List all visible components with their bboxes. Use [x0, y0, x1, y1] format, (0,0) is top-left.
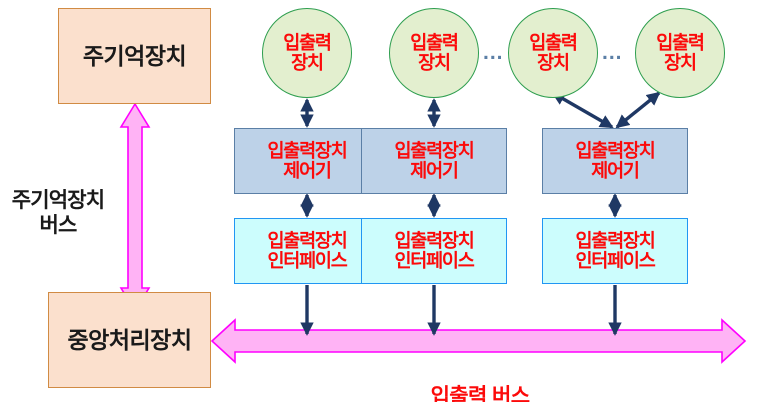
io-device-circle-3[interactable]: 입출력 장치: [508, 8, 598, 98]
io-device-label-1: 입출력 장치: [283, 33, 330, 74]
cpu-box[interactable]: 중앙처리장치: [48, 292, 211, 388]
io-controller-label-2: 입출력장치 제어기: [394, 141, 473, 181]
ellipsis-2-text: ...: [602, 41, 623, 64]
connector-device-controller-3b: [617, 93, 659, 127]
connector-device-controller-3a: [553, 93, 612, 127]
io-controller-label-1: 입출력장치 제어기: [267, 141, 346, 181]
cpu-box-label: 중앙처리장치: [68, 328, 192, 353]
io-architecture-diagram: 주기억장치 중앙처리장치 주기억장치 버스 입출력 버스 입출력 장치 입출력 …: [0, 0, 778, 402]
io-interface-label-1: 입출력장치 인터페이스: [267, 231, 346, 271]
io-bus-label-text: 입출력 버스: [431, 385, 530, 402]
ellipsis-2: ...: [602, 42, 623, 63]
io-interface-box-3[interactable]: 입출력장치 인터페이스: [542, 218, 688, 284]
io-controller-box-1[interactable]: 입출력장치 제어기: [234, 128, 380, 194]
io-bus-label: 입출력 버스: [390, 356, 570, 402]
memory-box-label: 주기억장치: [83, 44, 186, 69]
io-device-circle-2[interactable]: 입출력 장치: [389, 8, 479, 98]
io-controller-box-3[interactable]: 입출력장치 제어기: [542, 128, 688, 194]
memory-box[interactable]: 주기억장치: [58, 8, 211, 104]
memory-bus-arrow-icon: [121, 104, 149, 311]
memory-bus-label-text: 주기억장치 버스: [12, 189, 105, 237]
ellipsis-1: ...: [483, 42, 504, 63]
io-interface-label-2: 입출력장치 인터페이스: [394, 231, 473, 271]
io-interface-box-2[interactable]: 입출력장치 인터페이스: [361, 218, 507, 284]
io-controller-box-2[interactable]: 입출력장치 제어기: [361, 128, 507, 194]
io-device-label-3: 입출력 장치: [529, 33, 576, 74]
io-controller-label-3: 입출력장치 제어기: [575, 141, 654, 181]
io-device-circle-4[interactable]: 입출력 장치: [635, 8, 725, 98]
memory-bus-label: 주기억장치 버스: [0, 163, 116, 239]
io-device-label-4: 입출력 장치: [656, 33, 703, 74]
ellipsis-1-text: ...: [483, 41, 504, 64]
io-interface-box-1[interactable]: 입출력장치 인터페이스: [234, 218, 380, 284]
io-device-circle-1[interactable]: 입출력 장치: [262, 8, 352, 98]
io-device-label-2: 입출력 장치: [410, 33, 457, 74]
io-interface-label-3: 입출력장치 인터페이스: [575, 231, 654, 271]
